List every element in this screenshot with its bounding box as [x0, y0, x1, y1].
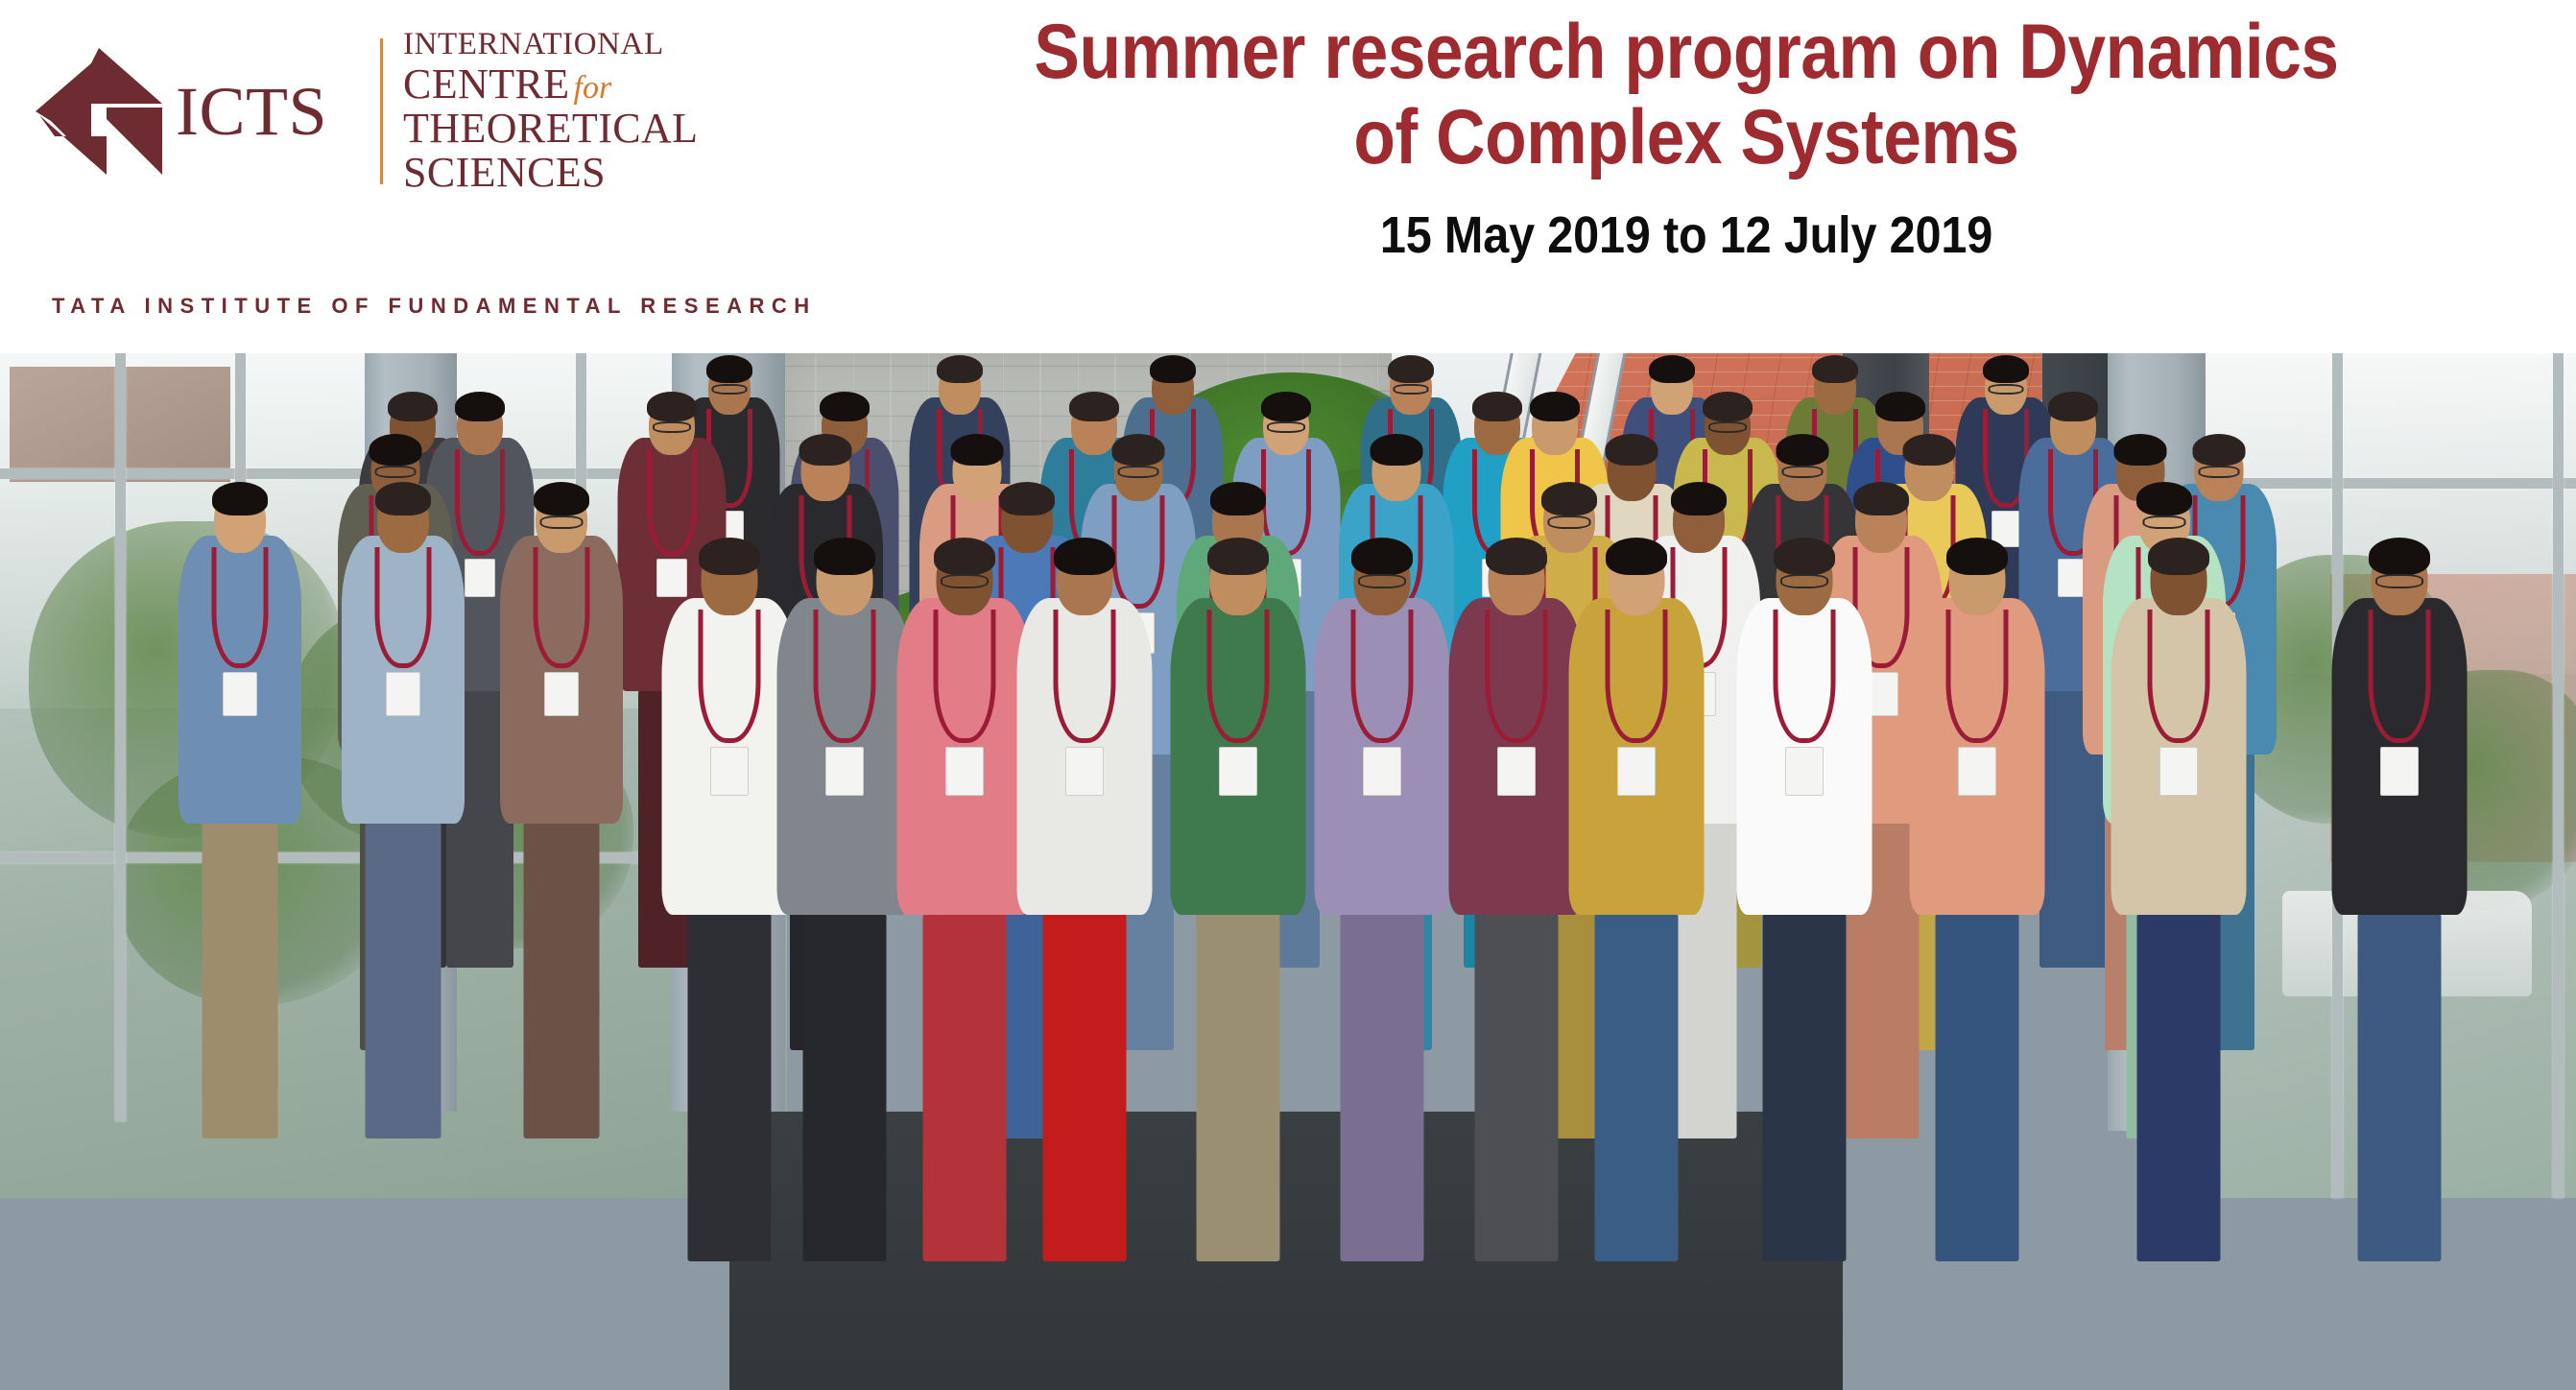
logo-line-centre: Centrefor — [403, 63, 835, 106]
person-hair — [1777, 434, 1829, 466]
person-hair — [1541, 482, 1597, 515]
lanyard — [1606, 610, 1668, 743]
person — [1737, 536, 1872, 1273]
person-legs — [1595, 913, 1679, 1261]
person-legs — [2358, 913, 2442, 1261]
person-hair — [951, 434, 1004, 466]
person-legs — [803, 913, 887, 1261]
person-hair — [1351, 538, 1413, 575]
eyeglasses — [540, 515, 584, 529]
lanyard — [2148, 610, 2210, 743]
icts-logo[interactable]: ICTS International Centrefor Theoretical… — [27, 17, 833, 334]
icts-program-banner: ICTS International Centrefor Theoretical… — [0, 0, 2576, 1390]
logo-word-for: for — [570, 70, 612, 106]
lanyard — [814, 610, 876, 743]
name-badge — [544, 672, 579, 716]
eyeglasses — [1358, 574, 1406, 588]
name-badge — [465, 559, 495, 597]
lanyard — [934, 610, 996, 743]
logo-line-theoretical: Theoretical — [403, 108, 835, 150]
icts-full-name: International Centrefor Theoretical Scie… — [403, 29, 835, 194]
person-legs — [1043, 913, 1127, 1261]
person-hair — [1112, 434, 1165, 466]
person-hair — [934, 538, 995, 575]
person-hair — [706, 355, 752, 383]
person-hair — [2114, 434, 2167, 466]
person-legs — [1936, 913, 2019, 1261]
person-hair — [1946, 538, 2008, 575]
person-hair — [2136, 482, 2192, 515]
person-legs — [923, 913, 1007, 1261]
person-hair — [2369, 538, 2430, 575]
eyeglasses — [941, 574, 989, 588]
person-hair — [1671, 482, 1727, 515]
name-badge — [825, 747, 864, 796]
lanyard — [1486, 610, 1548, 743]
person-hair — [1371, 434, 1423, 466]
person-hair — [1606, 434, 1658, 466]
name-badge — [1958, 747, 1996, 796]
name-badge — [945, 747, 984, 796]
person-hair — [1703, 392, 1753, 421]
person-legs — [688, 913, 772, 1261]
person-legs — [524, 822, 600, 1138]
person-hair — [1486, 538, 1547, 575]
person-hair — [455, 392, 505, 421]
person — [1017, 536, 1153, 1273]
person — [179, 480, 301, 1150]
person-hair — [647, 392, 697, 421]
person-hair — [699, 538, 760, 575]
person-hair — [1069, 392, 1119, 421]
person-hair — [2048, 392, 2098, 421]
window-mullion — [115, 353, 126, 1121]
lanyard — [1946, 610, 2009, 743]
person-hair — [2148, 538, 2209, 575]
person-hair — [1207, 538, 1269, 575]
person — [777, 536, 913, 1273]
lanyard — [212, 547, 269, 668]
person-hair — [370, 434, 422, 466]
lanyard — [2369, 610, 2431, 743]
logo-word-centre: Centre — [403, 60, 570, 108]
person — [1569, 536, 1705, 1273]
person-legs — [1197, 913, 1280, 1261]
person — [342, 480, 465, 1150]
person-hair — [1812, 355, 1858, 383]
person-hair — [2193, 434, 2246, 466]
name-badge — [710, 747, 749, 796]
person-legs — [203, 822, 278, 1138]
program-dates: 15 May 2019 to 12 July 2019 — [886, 205, 2488, 265]
person-hair — [1530, 392, 1580, 421]
banner-header: ICTS International Centrefor Theoretical… — [0, 0, 2576, 353]
eyeglasses — [1708, 421, 1747, 433]
person-legs — [2137, 913, 2221, 1261]
person-hair — [937, 355, 983, 383]
person — [500, 480, 623, 1150]
person-hair — [534, 482, 589, 515]
person-hair — [212, 482, 268, 515]
lanyard — [1207, 610, 1270, 743]
person — [2332, 536, 2468, 1273]
lanyard — [1774, 610, 1836, 743]
icts-wordmark: ICTS — [176, 77, 327, 146]
person-hair — [1903, 434, 1956, 466]
eyeglasses — [1267, 421, 1305, 433]
person-hair — [820, 392, 870, 421]
name-badge — [1065, 747, 1104, 796]
person — [1171, 536, 1306, 1273]
person-hair — [1606, 538, 1667, 575]
name-badge — [2159, 747, 2198, 796]
person-hair — [1261, 392, 1311, 421]
icts-pinwheel-logo-mark — [32, 44, 166, 179]
eyeglasses — [1780, 574, 1828, 588]
person — [2111, 536, 2247, 1273]
eyeglasses — [1548, 515, 1591, 529]
eyeglasses — [2375, 574, 2423, 588]
person-hair — [1853, 482, 1909, 515]
person-hair — [1210, 482, 1266, 515]
title-block: Summer research program on Dynamics of C… — [797, 10, 2576, 265]
person-hair — [375, 482, 431, 515]
person-legs — [1763, 913, 1847, 1261]
lanyard — [1351, 610, 1414, 743]
lanyard — [699, 610, 761, 743]
window-mullion — [2553, 353, 2564, 1198]
person-hair — [1983, 355, 2029, 383]
person-legs — [1341, 913, 1424, 1261]
name-badge — [223, 672, 257, 716]
name-badge — [1617, 747, 1656, 796]
person-hair — [1054, 538, 1115, 575]
person-hair — [1388, 355, 1434, 383]
eyeglasses — [1394, 384, 1429, 395]
lanyard — [534, 547, 590, 668]
eyeglasses — [2199, 466, 2240, 478]
person — [897, 536, 1033, 1273]
eyeglasses — [653, 421, 691, 433]
logo-divider — [380, 38, 383, 184]
person — [1449, 536, 1585, 1273]
eyeglasses — [375, 466, 417, 478]
name-badge — [1497, 747, 1536, 796]
person-legs — [366, 822, 441, 1138]
logo-line-sciences: Sciences — [403, 152, 835, 194]
logo-line-international: International — [403, 29, 835, 60]
person-legs — [1475, 913, 1559, 1261]
person-hair — [999, 482, 1055, 515]
eyeglasses — [2143, 515, 2186, 529]
person-hair — [814, 538, 875, 575]
tifr-subtitle: TATA INSTITUTE OF FUNDAMENTAL RESEARCH — [52, 294, 817, 319]
person-hair — [1150, 355, 1196, 383]
eyeglasses — [1118, 466, 1159, 478]
person-hair — [1774, 538, 1835, 575]
lanyard — [1054, 610, 1116, 743]
person — [1910, 536, 2045, 1273]
person — [1315, 536, 1450, 1273]
name-badge — [1363, 747, 1401, 796]
program-title: Summer research program on Dynamics of C… — [903, 10, 2469, 180]
name-badge — [386, 672, 420, 716]
name-badge — [1219, 747, 1257, 796]
lanyard — [375, 547, 432, 668]
person-hair — [1649, 355, 1695, 383]
group-photograph — [0, 353, 2576, 1390]
person-hair — [1875, 392, 1925, 421]
person-hair — [799, 434, 852, 466]
name-badge — [1785, 747, 1824, 796]
name-badge — [2380, 747, 2419, 796]
eyeglasses — [1782, 466, 1824, 478]
